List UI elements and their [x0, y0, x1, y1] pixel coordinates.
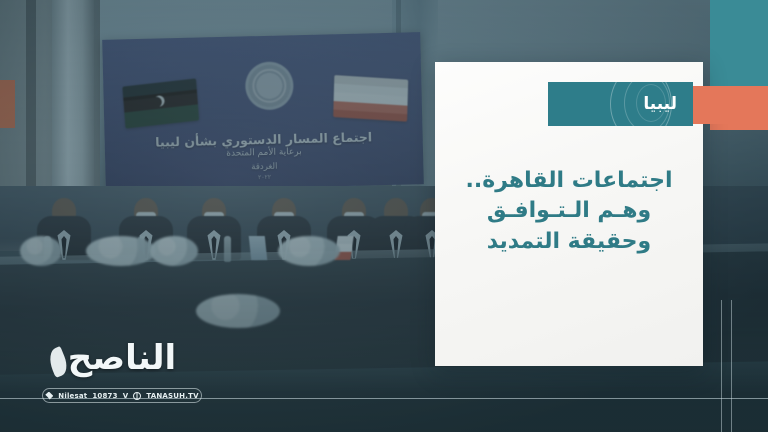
satellite-name: Nilesat: [58, 392, 87, 400]
right-color-band: [710, 0, 768, 432]
headline-line-2: وهـم الـتـوافـق: [448, 196, 690, 226]
country-tag[interactable]: ليبيا: [548, 82, 693, 126]
headline-line-1: اجتماعات القاهرة..: [448, 166, 690, 196]
channel-logo: الناصح Nilesat 10873 V TANASUH.TV: [36, 336, 208, 408]
satellite-icon: [45, 392, 53, 400]
headline-line-3: وحقيقة التمديد: [448, 227, 690, 257]
satellite-polarization: V: [123, 392, 129, 400]
channel-info-bar: Nilesat 10873 V TANASUH.TV: [42, 388, 202, 403]
vertical-rule: [731, 300, 732, 432]
headline: اجتماعات القاهرة.. وهـم الـتـوافـق وحقيق…: [448, 166, 690, 257]
vertical-rule: [721, 300, 722, 432]
news-graphic-stage: اجتماع المسار الدستوري بشأن ليبيا برعاية…: [0, 0, 768, 432]
channel-website: TANASUH.TV: [146, 392, 198, 400]
satellite-frequency: 10873: [92, 392, 117, 400]
globe-icon: [133, 392, 141, 400]
country-tag-label: ليبيا: [643, 94, 677, 114]
